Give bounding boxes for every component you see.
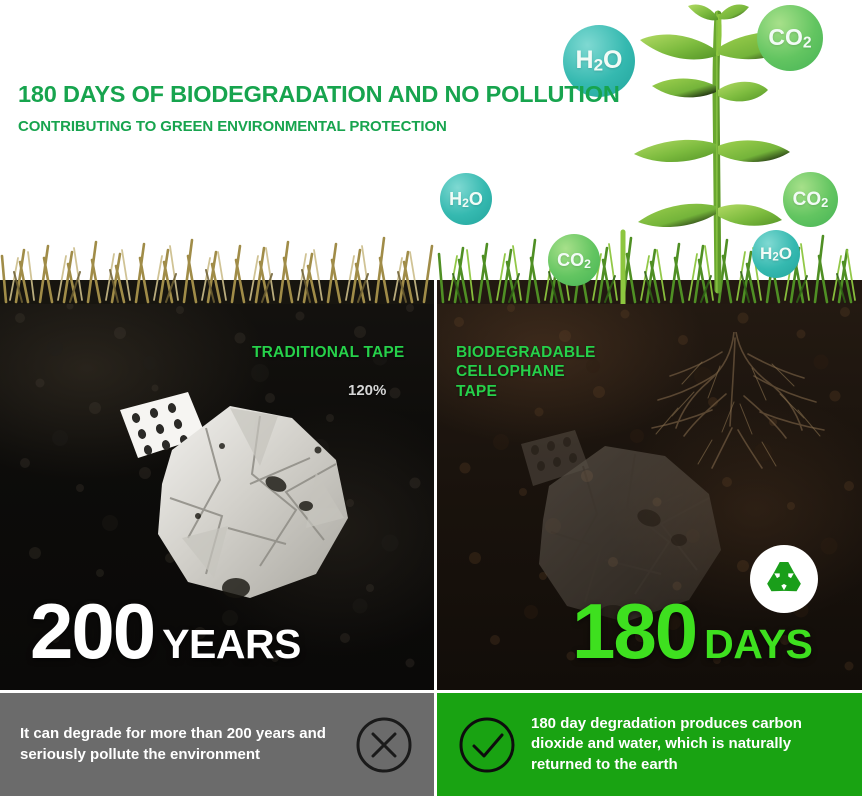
big-number-value: 200 (30, 596, 154, 666)
cross-circle-icon (354, 715, 414, 775)
caption-bars: It can degrade for more than 200 years a… (0, 690, 862, 796)
bubble-label: H2O (760, 244, 792, 264)
bubble-h2o-icon: H2O (752, 230, 800, 278)
page-subtitle: CONTRIBUTING TO GREEN ENVIRONMENTAL PROT… (18, 118, 620, 135)
caption-text: It can degrade for more than 200 years a… (20, 724, 340, 765)
traditional-tape-debris (110, 388, 400, 618)
big-number-unit: YEARS (162, 621, 301, 668)
grass-dry (0, 228, 434, 304)
bubble-h2o-icon: H2O (440, 173, 492, 225)
page-title: 180 DAYS OF BIODEGRADATION AND NO POLLUT… (18, 82, 620, 108)
bubble-co2-icon: CO2 (757, 5, 823, 71)
bubble-co2-icon: CO2 (548, 234, 600, 286)
big-number-unit: DAYS (704, 621, 812, 668)
label-biodegradable-tape: BIODEGRADABLE CELLOPHANE TAPE (456, 343, 606, 401)
label-percent: 120% (348, 382, 386, 399)
check-circle-icon (457, 715, 517, 775)
caption-biodegradable: 180 day degradation produces carbon diox… (437, 690, 862, 796)
caption-traditional: It can degrade for more than 200 years a… (0, 690, 434, 796)
bubble-label: CO2 (768, 24, 811, 52)
bubble-label: H2O (576, 46, 623, 76)
big-stat-years: 200 YEARS (30, 596, 301, 668)
caption-text: 180 day degradation produces carbon diox… (531, 714, 842, 775)
recycle-icon (748, 543, 820, 615)
caption-divider (434, 690, 437, 796)
headline-block: 180 DAYS OF BIODEGRADATION AND NO POLLUT… (18, 82, 620, 135)
panel-divider (434, 228, 437, 690)
infographic-poster: 180 DAYS OF BIODEGRADATION AND NO POLLUT… (0, 0, 862, 796)
big-number-value: 180 (572, 596, 696, 666)
label-traditional-tape: TRADITIONAL TAPE (252, 343, 404, 362)
bubble-co2-icon: CO2 (783, 172, 838, 227)
bubble-label: H2O (449, 189, 483, 210)
bubble-label: CO2 (557, 250, 591, 271)
bubble-label: CO2 (793, 189, 829, 211)
